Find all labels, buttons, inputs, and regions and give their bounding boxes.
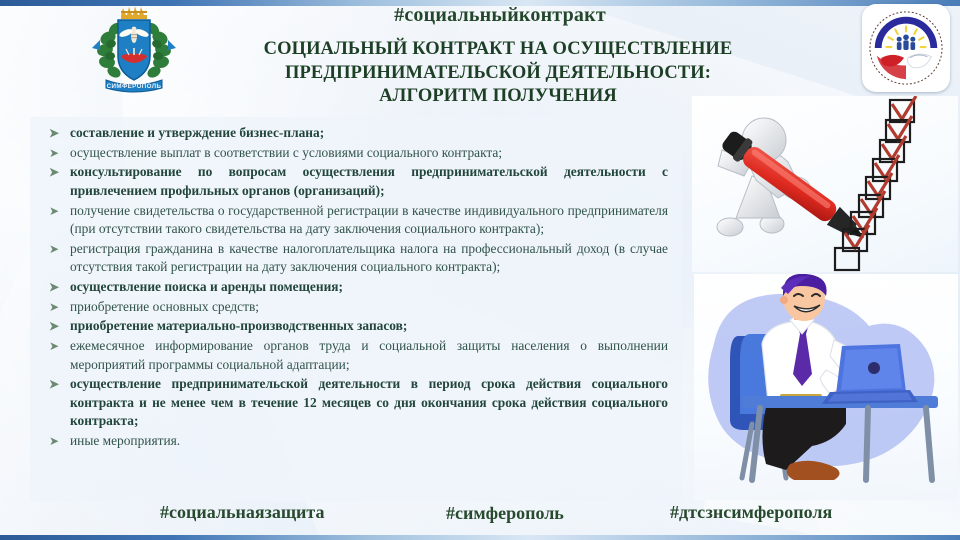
title-line-2: ПРЕДПРИНИМАТЕЛЬСКОЙ ДЕЯТЕЛЬНОСТИ: bbox=[178, 62, 818, 86]
measure-list-item-text: иные мероприятия. bbox=[70, 433, 180, 448]
bullet-arrow-icon: ➤ bbox=[49, 337, 59, 355]
title-line-1: СОЦИАЛЬНЫЙ КОНТРАКТ НА ОСУЩЕСТВЛЕНИЕ bbox=[178, 38, 818, 62]
measure-list-item: ➤осуществление выплат в соответствии с у… bbox=[40, 144, 668, 163]
bottom-hashtags: #социальнаязащита #симферополь #дтсзнсим… bbox=[0, 502, 960, 532]
bullet-arrow-icon: ➤ bbox=[49, 317, 59, 335]
measure-list-item: ➤приобретение материально-производственн… bbox=[40, 317, 668, 336]
measure-list-item-text: осуществление выплат в соответствии с ус… bbox=[70, 145, 502, 160]
crest-banner-text: СИМФЕРОПОЛЬ bbox=[107, 83, 162, 90]
measure-list-item-text: получение свидетельства о государственно… bbox=[70, 203, 668, 237]
measure-list-item: ➤ежемесячное информирование органов труд… bbox=[40, 337, 668, 374]
measure-list-item: ➤консультирование по вопросам осуществле… bbox=[40, 163, 668, 200]
bottom-accent-bar bbox=[0, 535, 960, 540]
hashtag-socialnaya-zashchita: #социальнаязащита bbox=[160, 502, 324, 523]
bullet-arrow-icon: ➤ bbox=[49, 240, 59, 258]
bullet-arrow-icon: ➤ bbox=[49, 375, 59, 393]
top-hashtag: #социальныйконтракт bbox=[200, 4, 800, 27]
poster-canvas: СИМФЕРОПОЛЬ bbox=[0, 0, 960, 540]
measure-list-item-text: составление и утверждение бизнес-плана; bbox=[70, 125, 324, 140]
bullet-arrow-icon: ➤ bbox=[49, 144, 59, 162]
bullet-arrow-icon: ➤ bbox=[49, 202, 59, 220]
measures-list: ➤составление и утверждение бизнес-плана;… bbox=[40, 124, 668, 451]
department-logo-icon bbox=[862, 4, 950, 92]
measure-list-item: ➤получение свидетельства о государственн… bbox=[40, 202, 668, 239]
businessman-laptop-illustration bbox=[694, 274, 958, 500]
measure-list-item: ➤приобретение основных средств; bbox=[40, 298, 668, 317]
checklist-figure-illustration bbox=[692, 96, 958, 272]
measure-list-item: ➤иные мероприятия. bbox=[40, 432, 668, 451]
measure-list-item: ➤осуществление поиска и аренды помещения… bbox=[40, 278, 668, 297]
hashtag-simferopol: #симферополь bbox=[446, 503, 564, 524]
hashtag-dtszn-simferopolya: #дтсзнсимферополя bbox=[670, 502, 832, 523]
measures-list-panel: ➤составление и утверждение бизнес-плана;… bbox=[30, 117, 682, 502]
measure-list-item-text: регистрация гражданина в качестве налого… bbox=[70, 241, 668, 275]
measure-list-item-text: приобретение основных средств; bbox=[70, 299, 259, 314]
measure-list-item: ➤составление и утверждение бизнес-плана; bbox=[40, 124, 668, 143]
measure-list-item-text: ежемесячное информирование органов труда… bbox=[70, 338, 668, 372]
bullet-arrow-icon: ➤ bbox=[49, 163, 59, 181]
measure-list-item: ➤осуществление предпринимательской деяте… bbox=[40, 375, 668, 431]
measure-list-item-text: осуществление предпринимательской деятел… bbox=[70, 376, 668, 428]
bullet-arrow-icon: ➤ bbox=[49, 298, 59, 316]
measure-list-item-text: приобретение материально-производственны… bbox=[70, 318, 407, 333]
bullet-arrow-icon: ➤ bbox=[49, 432, 59, 450]
bullet-arrow-icon: ➤ bbox=[49, 278, 59, 296]
measure-list-item-text: консультирование по вопросам осуществлен… bbox=[70, 164, 668, 198]
measure-list-item: ➤регистрация гражданина в качестве налог… bbox=[40, 240, 668, 277]
simferopol-coat-of-arms-icon: СИМФЕРОПОЛЬ bbox=[88, 4, 180, 96]
measure-list-item-text: осуществление поиска и аренды помещения; bbox=[70, 279, 343, 294]
bullet-arrow-icon: ➤ bbox=[49, 124, 59, 142]
